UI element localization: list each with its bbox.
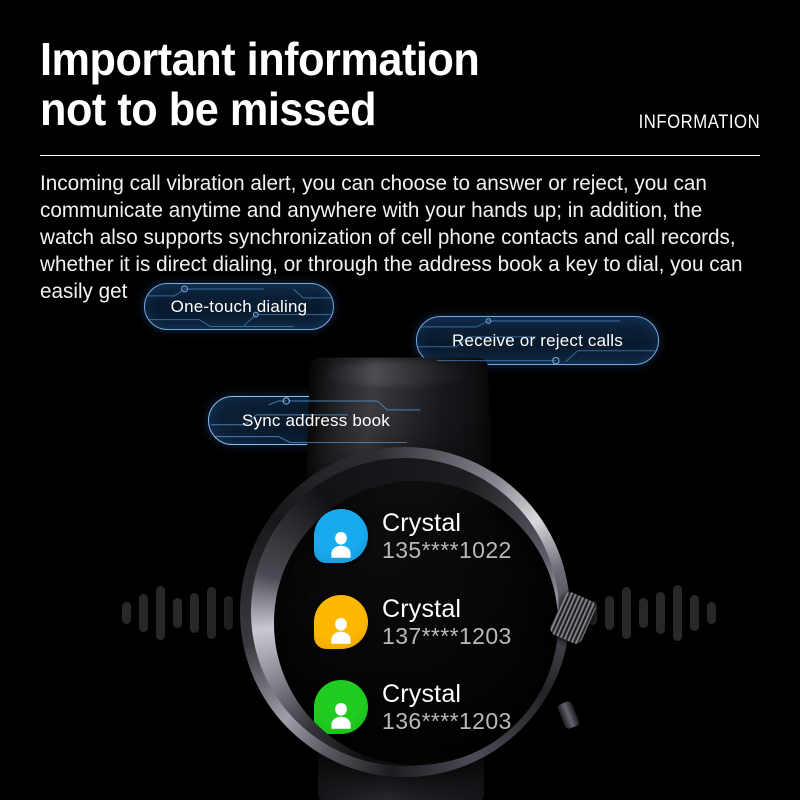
waveform-bar bbox=[139, 594, 148, 632]
contact-text: Crystal 136****1203 bbox=[382, 681, 512, 734]
person-icon bbox=[327, 615, 355, 645]
contact-number: 135****1022 bbox=[382, 537, 512, 563]
promo-banner: Important information not to be missed I… bbox=[0, 0, 800, 800]
watch-bezel: Crystal 135****1022 bbox=[251, 458, 559, 766]
avatar bbox=[314, 509, 368, 563]
page-title: Important information not to be missed bbox=[40, 34, 717, 134]
watch-case: Crystal 135****1022 bbox=[240, 447, 570, 777]
waveform-bar bbox=[656, 592, 665, 634]
description-paragraph: Incoming call vibration alert, you can c… bbox=[40, 170, 755, 305]
contact-list-item[interactable]: Crystal 136****1203 bbox=[314, 674, 558, 740]
header-divider bbox=[40, 155, 760, 156]
contact-name: Crystal bbox=[382, 596, 512, 623]
contact-list: Crystal 135****1022 bbox=[274, 481, 558, 765]
watch-side-button[interactable] bbox=[557, 700, 581, 730]
section-kicker: INFORMATION bbox=[638, 112, 760, 134]
contact-number: 137****1203 bbox=[382, 623, 512, 649]
waveform-bar bbox=[156, 586, 165, 640]
contact-name: Crystal bbox=[382, 681, 512, 708]
feature-pill-one-touch-dialing[interactable]: One-touch dialing bbox=[144, 283, 334, 330]
waveform-bar bbox=[707, 602, 716, 624]
watch-display: Crystal 135****1022 bbox=[274, 481, 558, 765]
contact-list-item[interactable]: Crystal 137****1203 bbox=[314, 589, 558, 655]
person-icon bbox=[327, 700, 355, 730]
feature-pill-label: One-touch dialing bbox=[171, 297, 308, 317]
waveform-bar bbox=[173, 598, 182, 628]
waveform-bar bbox=[622, 587, 631, 639]
contact-name: Crystal bbox=[382, 510, 512, 537]
waveform-bar bbox=[690, 595, 699, 631]
person-icon bbox=[327, 529, 355, 559]
avatar bbox=[314, 595, 368, 649]
contact-text: Crystal 135****1022 bbox=[382, 510, 512, 563]
avatar bbox=[314, 680, 368, 734]
feature-pill-label: Sync address book bbox=[242, 411, 390, 431]
waveform-bar bbox=[122, 602, 131, 624]
waveform-bar bbox=[639, 598, 648, 628]
feature-pill-label: Receive or reject calls bbox=[452, 331, 623, 351]
contact-text: Crystal 137****1203 bbox=[382, 596, 512, 649]
header: Important information not to be missed I… bbox=[40, 34, 760, 134]
contact-number: 136****1203 bbox=[382, 708, 512, 734]
waveform-bar bbox=[673, 585, 682, 641]
contact-list-item[interactable]: Crystal 135****1022 bbox=[314, 503, 558, 569]
